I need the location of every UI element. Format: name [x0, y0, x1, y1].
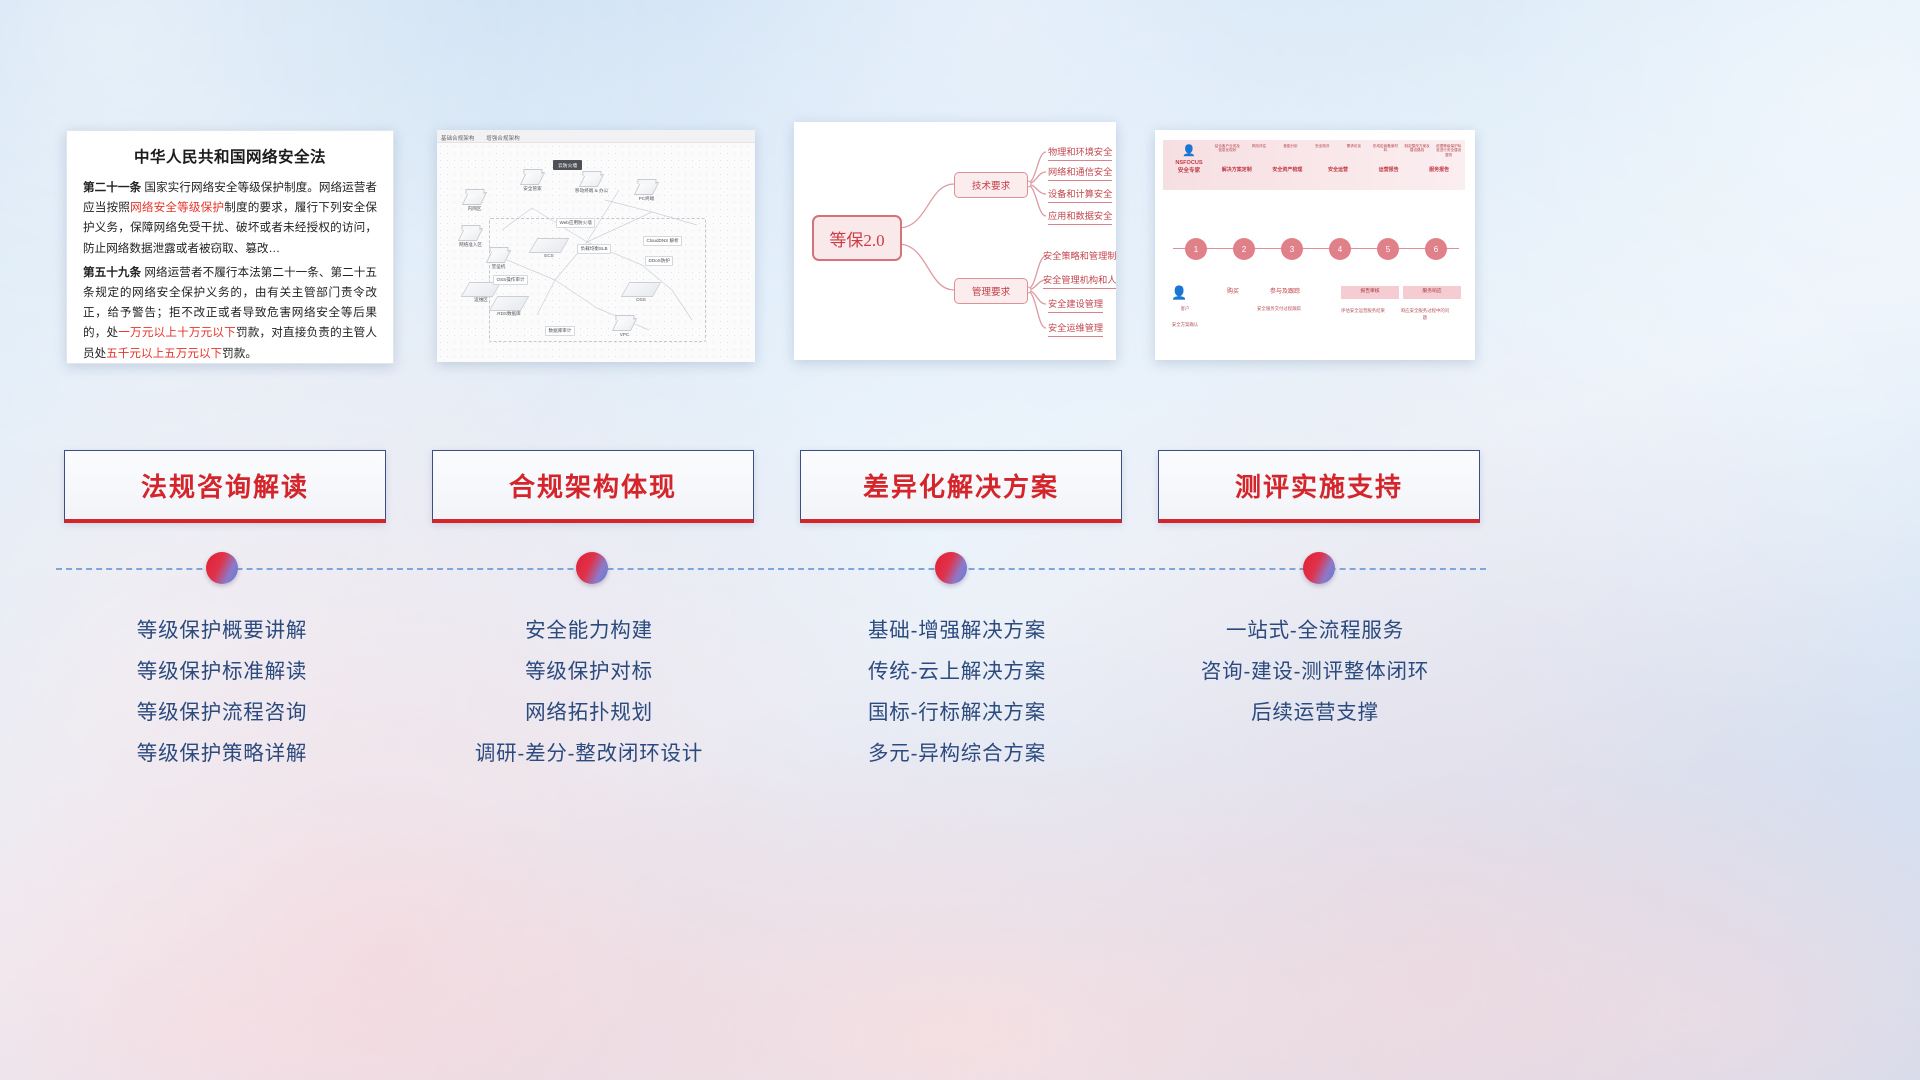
list-item: 等级保护概要讲解 — [57, 610, 387, 651]
article-21-highlight: 网络安全等级保护 — [130, 201, 224, 214]
cube-icon — [612, 318, 637, 331]
list-item: 等级保护对标 — [424, 651, 754, 692]
arch-node-network-access: 网络准入区 — [459, 228, 482, 248]
mindmap-leaf: 网络和通信安全 — [1048, 164, 1112, 181]
list-column-3: 基础-增强解决方案 传统-云上解决方案 国标-行标解决方案 多元-异构综合方案 — [792, 610, 1122, 774]
card-law-document: 中华人民共和国网络安全法 第二十一条 国家实行网络安全等级保护制度。网络运营者应… — [66, 130, 394, 364]
mindmap-root: 等保2.0 — [812, 215, 902, 261]
nsfocus-logo: 👤 NSFOCUS 安全专家 — [1169, 146, 1209, 176]
arch-node-label: VPC — [620, 332, 629, 337]
mindmap-branch-management: 管理要求 — [954, 278, 1028, 304]
arch-node-security-manager: 安全管家 — [523, 172, 542, 192]
mindmap-leaf: 物理和环境安全 — [1048, 144, 1112, 161]
mindmap-leaf: 安全策略和管理制度 — [1043, 248, 1116, 264]
arch-node-rds: RDS数据库 — [493, 296, 525, 317]
nsfocus-chip-title: 服务响应 — [1403, 286, 1461, 299]
cube-icon — [486, 250, 511, 263]
arch-node-pc: PC终端 — [637, 182, 656, 202]
nsfocus-step: 2 — [1233, 238, 1255, 260]
list-item: 等级保护流程咨询 — [57, 692, 387, 733]
timeline-dot-2 — [576, 552, 608, 584]
law-title: 中华人民共和国网络安全法 — [83, 145, 377, 167]
plate-icon — [529, 238, 570, 253]
list-item: 等级保护标准解读 — [57, 651, 387, 692]
nsfocus-bottom-note: 安全服务交付过程跟踪 — [1253, 306, 1305, 313]
nsfocus-top-caption: 结合客户业务及信息化现状 — [1213, 144, 1242, 157]
nsfocus-top-caption: 安全测评 — [1308, 144, 1337, 157]
card-mindmap: 等保2.0 技术要求 管理要求 物理和环境安全 网络和通信安全 设备和计算安全 … — [794, 122, 1116, 360]
list-item: 安全能力构建 — [424, 610, 754, 651]
mindmap-branch-technical: 技术要求 — [954, 172, 1028, 198]
timeline-dot-4 — [1303, 552, 1335, 584]
article-59-highlight-1: 一万元以上十万元以下 — [118, 326, 236, 339]
list-column-4: 一站式-全流程服务 咨询-建设-测评整体闭环 后续运营支撑 — [1150, 610, 1480, 733]
title-box-label: 差异化解决方案 — [863, 467, 1059, 504]
arch-node-label: 移动终端 & 办公 — [575, 188, 608, 193]
mindmap-leaf: 设备和计算安全 — [1048, 186, 1112, 203]
list-item: 一站式-全流程服务 — [1150, 610, 1480, 651]
nsfocus-phase: 安全资产梳理 — [1264, 166, 1312, 173]
arch-tag-ddos: DDoS防护 — [645, 256, 673, 266]
customer-icon: 👤 — [1171, 285, 1187, 301]
nsfocus-step: 6 — [1425, 238, 1447, 260]
arch-node-label: PC终端 — [639, 196, 655, 201]
nsfocus-step: 1 — [1185, 238, 1207, 260]
cube-icon — [634, 182, 659, 195]
title-box-regulation-consulting[interactable]: 法规咨询解读 — [64, 450, 386, 523]
nsfocus-top-caption: 形成定级备案材料 — [1371, 144, 1400, 157]
arch-tag-cloud-firewall: 云防火墙 — [553, 160, 582, 170]
arch-node-label: ECS — [544, 253, 553, 258]
nsfocus-chip-note: 评估安全运营服务结果 — [1337, 308, 1389, 315]
arch-node-label: 安全管家 — [523, 186, 541, 191]
list-column-2: 安全能力构建 等级保护对标 网络拓扑规划 调研-差分-整改闭环设计 — [424, 610, 754, 774]
law-article-59: 第五十九条 网络运营者不履行本法第二十一条、第二十五条规定的网络安全保护义务的，… — [83, 263, 377, 364]
plate-icon — [621, 282, 662, 297]
list-item: 国标-行标解决方案 — [792, 692, 1122, 733]
architecture-canvas: 基础合规架构 增强合规架构 云防火墙 内网区 — [437, 130, 755, 362]
nsfocus-chip-title: 报告审核 — [1341, 286, 1399, 299]
arch-node-ecs: ECS — [533, 238, 565, 259]
nsfocus-phase: 安全运营 — [1314, 166, 1362, 173]
nsfocus-phase: 解决方案定制 — [1213, 166, 1261, 173]
law-document-body: 中华人民共和国网络安全法 第二十一条 国家实行网络安全等级保护制度。网络运营者应… — [67, 131, 393, 363]
mindmap-leaf: 安全建设管理 — [1048, 296, 1103, 313]
article-59-highlight-2: 五千元以上五万元以下 — [106, 347, 222, 360]
title-box-label: 合规架构体现 — [509, 467, 677, 504]
arch-node-label: RDS数据库 — [497, 311, 520, 316]
list-item: 传统-云上解决方案 — [792, 651, 1122, 692]
timeline-dashed-line — [56, 568, 1486, 570]
list-item: 后续运营支撑 — [1150, 692, 1480, 733]
timeline-dot-1 — [206, 552, 238, 584]
infographic-stage: 中华人民共和国网络安全法 第二十一条 国家实行网络安全等级保护制度。网络运营者应… — [0, 0, 1920, 1080]
mindmap-leaf: 应用和数据安全 — [1048, 208, 1112, 225]
arch-tag-audit: OSS操作审计 — [493, 275, 528, 285]
arch-node-vpc: VPC — [615, 318, 634, 338]
arch-node-intranet: 内网区 — [465, 192, 484, 212]
timeline-dot-3 — [935, 552, 967, 584]
cube-icon — [462, 192, 487, 205]
nsfocus-phase: 运营报告 — [1365, 166, 1413, 173]
cube-icon — [458, 228, 483, 241]
card-architecture-diagram: 基础合规架构 增强合规架构 云防火墙 内网区 — [437, 130, 755, 362]
arch-node-label: 网络准入区 — [459, 242, 482, 247]
list-item: 等级保护策略详解 — [57, 733, 387, 774]
cube-icon — [520, 172, 545, 185]
nsfocus-phase: 服务报告 — [1415, 166, 1463, 173]
plate-icon — [489, 296, 530, 311]
nsfocus-axis-line — [1173, 248, 1459, 249]
nsfocus-bottom-item: 参与及跟踪 — [1259, 288, 1311, 297]
article-59-label: 第五十九条 — [83, 266, 141, 279]
list-item: 基础-增强解决方案 — [792, 610, 1122, 651]
person-icon: 👤 — [1169, 146, 1209, 157]
arch-node-mobile-office: 移动终端 & 办公 — [575, 174, 608, 194]
nsfocus-top-caption: 制定整改方案及建设路线 — [1403, 144, 1432, 157]
cube-icon — [579, 174, 604, 187]
nsfocus-customer-label: 客户 — [1159, 306, 1211, 313]
nsfocus-bottom-item: 购买 — [1207, 288, 1259, 297]
arch-node-label: 内网区 — [468, 206, 482, 211]
title-box-label: 测评实施支持 — [1235, 467, 1403, 504]
nsfocus-top-caption: 风险评估 — [1245, 144, 1274, 157]
list-item: 网络拓扑规划 — [424, 692, 754, 733]
arch-tag-db-audit: 数据库审计 — [545, 326, 575, 336]
mindmap-leaf: 安全管理机构和人员 — [1043, 272, 1116, 289]
article-21-label: 第二十一条 — [83, 181, 141, 194]
arch-node-bastion: 堡垒机 — [489, 250, 508, 270]
mindmap-canvas: 等保2.0 技术要求 管理要求 物理和环境安全 网络和通信安全 设备和计算安全 … — [794, 122, 1116, 360]
title-box-evaluation-support[interactable]: 测评实施支持 — [1158, 450, 1480, 523]
nsfocus-chip-note: 响应安全服务过程中的问题 — [1399, 308, 1451, 321]
arch-tag-slb: 负载均衡SLB — [577, 244, 611, 254]
law-article-21: 第二十一条 国家实行网络安全等级保护制度。网络运营者应当按照网络安全等级保护制度… — [83, 178, 377, 259]
card-nsfocus-timeline: 👤 NSFOCUS 安全专家 结合客户业务及信息化现状 风险评估 差距分析 安全… — [1155, 130, 1475, 360]
nsfocus-step: 3 — [1281, 238, 1303, 260]
nsfocus-canvas: 👤 NSFOCUS 安全专家 结合客户业务及信息化现状 风险评估 差距分析 安全… — [1155, 130, 1475, 360]
nsfocus-top-caption: 需求访谈 — [1340, 144, 1369, 157]
nsfocus-top-caption: 依据等级保护标准进行安全建设整改 — [1434, 144, 1463, 157]
title-box-differentiated-solution[interactable]: 差异化解决方案 — [800, 450, 1122, 523]
nsfocus-step: 5 — [1377, 238, 1399, 260]
arch-node-label: OSS — [636, 297, 646, 302]
list-column-1: 等级保护概要讲解 等级保护标准解读 等级保护流程咨询 等级保护策略详解 — [57, 610, 387, 774]
arch-tag-dns: CloudDNS 解析 — [643, 236, 682, 246]
article-59-text-c: 罚款。 — [222, 347, 257, 360]
title-box-label: 法规咨询解读 — [141, 467, 309, 504]
arch-node-label: 堡垒机 — [492, 264, 506, 269]
list-item: 咨询-建设-测评整体闭环 — [1150, 651, 1480, 692]
list-item: 调研-差分-整改闭环设计 — [424, 733, 754, 774]
title-box-compliance-architecture[interactable]: 合规架构体现 — [432, 450, 754, 523]
nsfocus-logo-line1: NSFOCUS — [1169, 159, 1209, 167]
arch-tag-waf: Web应用防火墙 — [556, 218, 595, 228]
nsfocus-logo-line2: 安全专家 — [1169, 167, 1209, 175]
list-item: 多元-异构综合方案 — [792, 733, 1122, 774]
nsfocus-step: 4 — [1329, 238, 1351, 260]
nsfocus-top-captions: 结合客户业务及信息化现状 风险评估 差距分析 安全测评 需求访谈 形成定级备案材… — [1213, 144, 1463, 157]
nsfocus-bottom-note: 安全方案确认 — [1159, 322, 1211, 329]
arch-node-oss: OSS — [625, 282, 657, 303]
arch-node-label: 运维区 — [474, 297, 488, 302]
nsfocus-top-caption: 差距分析 — [1276, 144, 1305, 157]
mindmap-leaf: 安全运维管理 — [1048, 320, 1103, 337]
nsfocus-phase-row: 解决方案定制 安全资产梳理 安全运营 运营报告 服务报告 — [1213, 166, 1463, 173]
